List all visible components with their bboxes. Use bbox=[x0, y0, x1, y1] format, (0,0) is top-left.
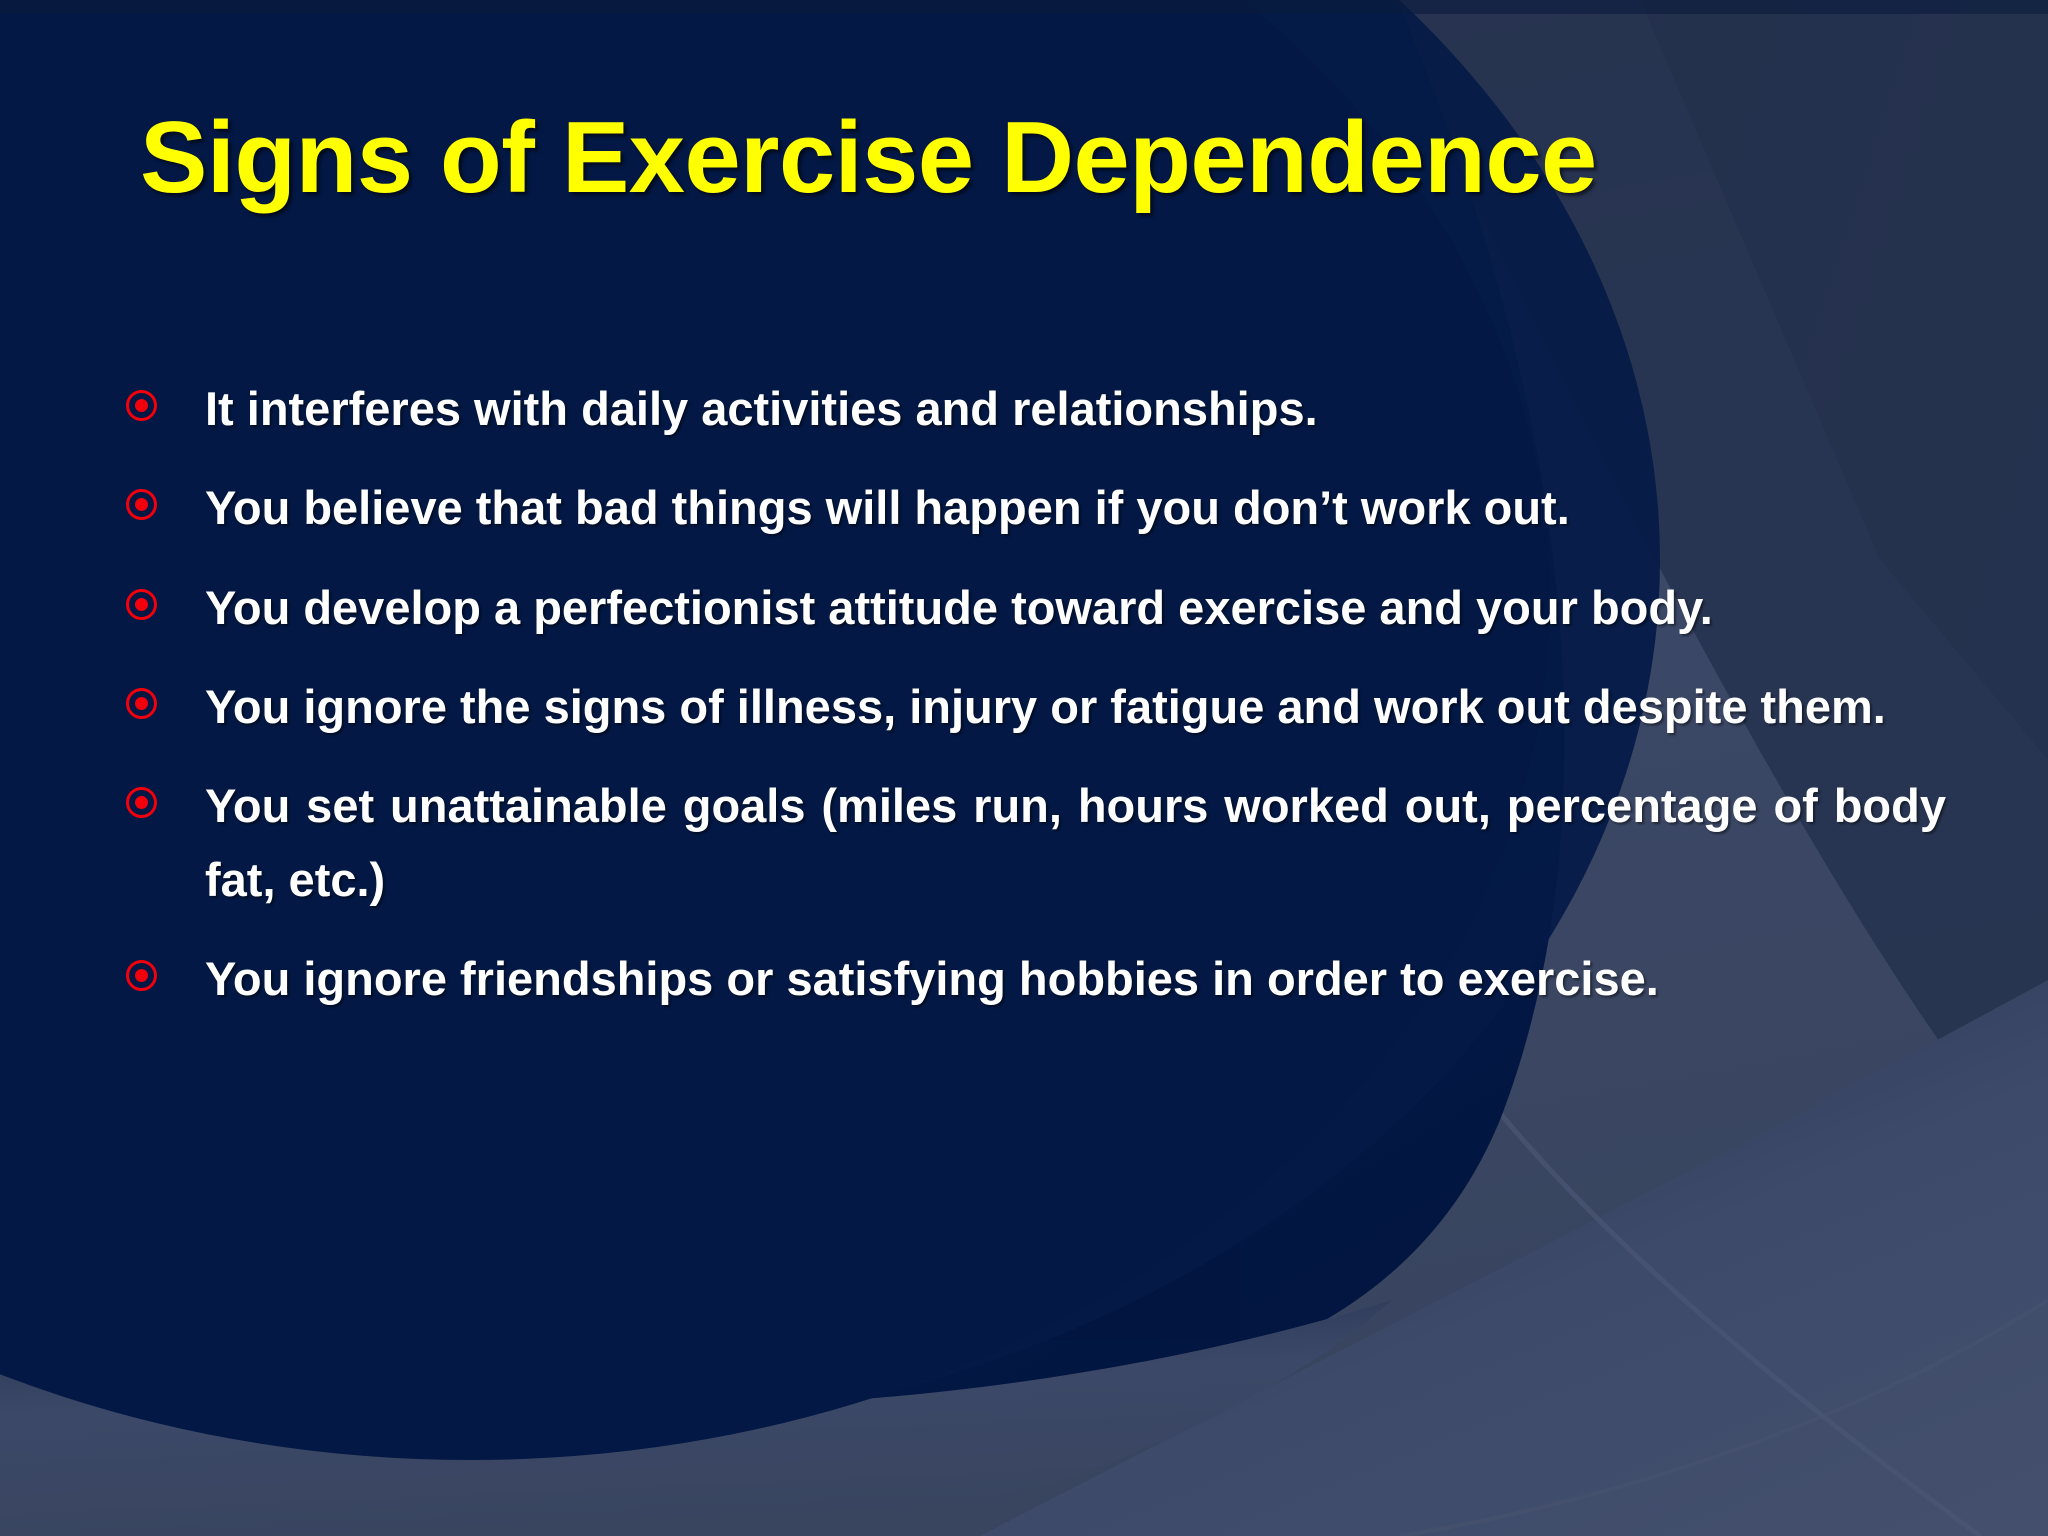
list-item: You believe that bad things will happen … bbox=[126, 471, 1946, 544]
list-item: You develop a perfectionist attitude tow… bbox=[126, 571, 1946, 644]
list-item: You ignore friendships or satisfying hob… bbox=[126, 942, 1946, 1015]
list-item: You ignore the signs of illness, injury … bbox=[126, 670, 1946, 743]
list-item: You set unattainable goals (miles run, h… bbox=[126, 769, 1946, 916]
target-circle-icon bbox=[126, 390, 157, 421]
list-item-label: You develop a perfectionist attitude tow… bbox=[205, 571, 1946, 644]
page-title: Signs of Exercise Dependence bbox=[140, 105, 1940, 212]
list-item-label: You ignore friendships or satisfying hob… bbox=[205, 942, 1946, 1015]
target-circle-icon bbox=[126, 960, 157, 991]
target-circle-icon bbox=[126, 489, 157, 520]
list-item-label: You ignore the signs of illness, injury … bbox=[205, 670, 1946, 743]
target-circle-icon bbox=[126, 787, 157, 818]
list-item-label: You believe that bad things will happen … bbox=[205, 471, 1946, 544]
target-circle-icon bbox=[126, 589, 157, 620]
slide-content: Signs of Exercise Dependence It interfer… bbox=[0, 0, 2048, 1536]
target-circle-icon bbox=[126, 688, 157, 719]
presentation-slide: Signs of Exercise Dependence It interfer… bbox=[0, 0, 2048, 1536]
bullet-list: It interferes with daily activities and … bbox=[126, 372, 1946, 1041]
list-item-label: You set unattainable goals (miles run, h… bbox=[205, 769, 1946, 916]
list-item: It interferes with daily activities and … bbox=[126, 372, 1946, 445]
list-item-label: It interferes with daily activities and … bbox=[205, 372, 1946, 445]
